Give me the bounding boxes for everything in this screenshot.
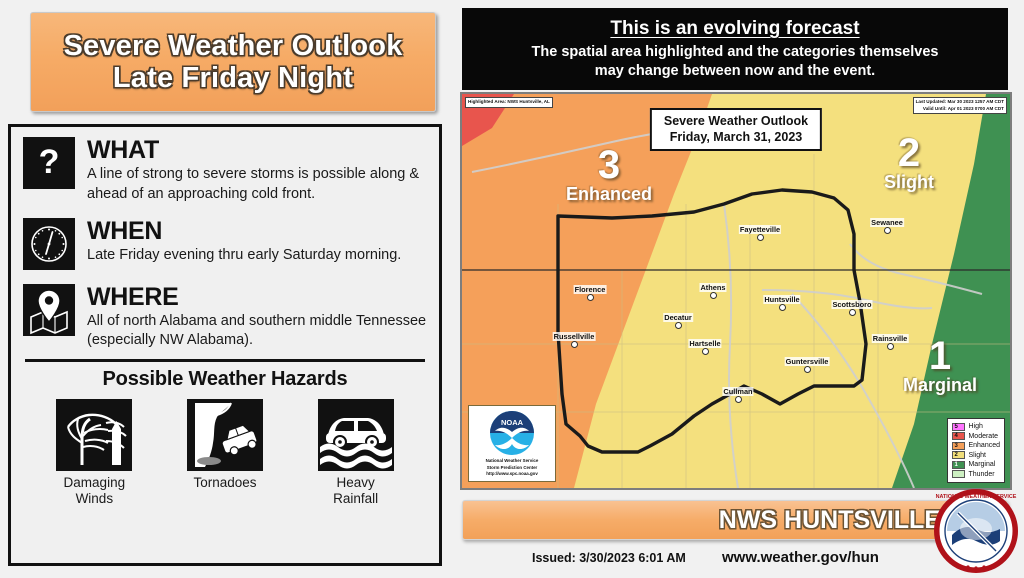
hazard-label-line-1: Damaging xyxy=(64,475,126,490)
legend-swatch xyxy=(952,470,965,478)
legend-swatch: 5 xyxy=(952,423,965,431)
info-box: ? WHAT A line of strong to severe storms… xyxy=(8,124,442,566)
map-timestamp-note: Last Updated: Mar 30 2023 1257 AM CDT Va… xyxy=(913,97,1007,114)
legend-row: 3Enhanced xyxy=(952,441,1000,451)
city-label: Huntsville xyxy=(763,295,800,304)
info-heading-where: WHERE xyxy=(87,284,427,310)
city-label: Sewanee xyxy=(870,218,904,227)
nws-seal-icon: NATIONAL WEATHER SERVICE xyxy=(934,489,1018,573)
city-dot xyxy=(735,396,742,403)
title-line-2: Late Friday Night xyxy=(113,62,353,94)
city-label: Scottsboro xyxy=(831,300,872,309)
legend-label: Moderate xyxy=(968,433,998,440)
wind-damaged-tree-icon xyxy=(56,399,132,471)
hazard-item: Heavy Rainfall xyxy=(298,399,414,507)
question-mark-icon: ? xyxy=(23,137,75,189)
city-dot xyxy=(710,292,717,299)
legend-swatch: 1 xyxy=(952,461,965,469)
info-heading-what: WHAT xyxy=(87,137,427,163)
map-valid-until: Valid Until: Apr 01 2023 0700 AM CDT xyxy=(916,106,1004,113)
info-section-when: WHEN Late Friday evening thru early Satu… xyxy=(23,218,427,270)
outlook-map[interactable]: Highlighted Area: NWS Huntsville, AL Las… xyxy=(460,92,1012,490)
left-panel: Severe Weather Outlook Late Friday Night… xyxy=(0,0,450,576)
category-number: 2 xyxy=(854,134,964,172)
legend-label: Marginal xyxy=(968,461,995,468)
noaa-line-3: http://www.spc.noaa.gov xyxy=(471,471,553,478)
info-section-where-body: WHERE All of north Alabama and southern … xyxy=(87,284,427,351)
city-label: Fayetteville xyxy=(739,225,781,234)
legend-swatch: 2 xyxy=(952,451,965,459)
clock-icon xyxy=(23,218,75,270)
info-text-what: A line of strong to severe storms is pos… xyxy=(87,165,427,204)
hazard-label-line-1: Heavy xyxy=(337,475,375,490)
hazards-list: Damaging Winds xyxy=(23,399,427,507)
info-text-when: Late Friday evening thru early Saturday … xyxy=(87,246,427,265)
city-dot xyxy=(757,234,764,241)
noaa-line-2: Storm Prediction Center xyxy=(471,465,553,472)
legend-label: Thunder xyxy=(968,471,994,478)
legend-row: Thunder xyxy=(952,470,1000,480)
issued-time: Issued: 3/30/2023 6:01 AM xyxy=(532,551,686,565)
hazard-label-line-2: Winds xyxy=(76,491,114,506)
category-number: 3 xyxy=(554,146,664,184)
tornado-icon xyxy=(187,399,263,471)
map-title-line-1: Severe Weather Outlook xyxy=(664,114,808,130)
city-label: Cullman xyxy=(722,387,753,396)
noaa-logo: NOAA xyxy=(489,410,535,456)
website-url[interactable]: www.weather.gov/hun xyxy=(722,549,879,566)
hazards-title: Possible Weather Hazards xyxy=(23,368,427,391)
info-section-when-body: WHEN Late Friday evening thru early Satu… xyxy=(87,218,427,270)
city-dot xyxy=(571,341,578,348)
map-pin-icon xyxy=(23,284,75,336)
noaa-spc-credit: NOAA National Weather Service Storm Pred… xyxy=(468,405,556,482)
legend-row: 1Marginal xyxy=(952,460,1000,470)
city-label: Florence xyxy=(574,285,607,294)
evolving-line-1: The spatial area highlighted and the cat… xyxy=(532,43,939,61)
info-heading-when: WHEN xyxy=(87,218,427,244)
hazard-label-line-2: Rainfall xyxy=(333,491,378,506)
info-text-where: All of north Alabama and southern middle… xyxy=(87,312,427,351)
evolving-headline: This is an evolving forecast xyxy=(610,18,859,40)
right-panel: This is an evolving forecast The spatial… xyxy=(450,0,1024,576)
city-label: Guntersville xyxy=(785,357,830,366)
svg-text:NOAA: NOAA xyxy=(501,418,524,427)
city-dot xyxy=(884,227,891,234)
city-dot xyxy=(587,294,594,301)
city-dot xyxy=(849,309,856,316)
legend-row: 5High xyxy=(952,422,1000,432)
hazard-item: Tornadoes xyxy=(167,399,283,491)
city-label: Russellville xyxy=(553,332,596,341)
legend-label: Enhanced xyxy=(968,442,1000,449)
legend-label: High xyxy=(968,423,982,430)
city-label: Rainsville xyxy=(872,334,909,343)
city-label: Athens xyxy=(699,283,726,292)
noaa-line-1: National Weather Service xyxy=(471,458,553,465)
map-highlighted-area-note: Highlighted Area: NWS Huntsville, AL xyxy=(465,97,553,108)
hazard-item: Damaging Winds xyxy=(36,399,152,507)
hazard-label: Damaging Winds xyxy=(36,475,152,507)
svg-text:?: ? xyxy=(39,143,60,181)
category-name: Slight xyxy=(854,172,964,193)
office-banner: NWS HUNTSVILLE xyxy=(462,500,1008,540)
hazards-divider xyxy=(25,359,425,362)
legend-swatch: 3 xyxy=(952,442,965,450)
city-dot xyxy=(804,366,811,373)
map-title-line-2: Friday, March 31, 2023 xyxy=(664,130,808,146)
svg-text:NATIONAL WEATHER SERVICE: NATIONAL WEATHER SERVICE xyxy=(936,494,1017,500)
graphic-root: Severe Weather Outlook Late Friday Night… xyxy=(0,0,1024,576)
category-label-slight: 2 Slight xyxy=(854,134,964,193)
category-label-enhanced: 3 Enhanced xyxy=(554,146,664,205)
info-section-what: ? WHAT A line of strong to severe storms… xyxy=(23,137,427,204)
city-label: Decatur xyxy=(663,313,693,322)
hazard-label: Tornadoes xyxy=(167,475,283,491)
map-title-box: Severe Weather Outlook Friday, March 31,… xyxy=(650,108,822,151)
flooded-car-icon xyxy=(318,399,394,471)
city-dot xyxy=(675,322,682,329)
category-name: Marginal xyxy=(882,375,998,396)
title-line-1: Severe Weather Outlook xyxy=(63,30,402,62)
city-dot xyxy=(887,343,894,350)
info-section-what-body: WHAT A line of strong to severe storms i… xyxy=(87,137,427,204)
city-label: Hartselle xyxy=(688,339,721,348)
legend-row: 4Moderate xyxy=(952,432,1000,442)
legend-row: 2Slight xyxy=(952,451,1000,461)
office-name: NWS HUNTSVILLE xyxy=(719,506,941,535)
hazard-label: Heavy Rainfall xyxy=(298,475,414,507)
evolving-line-2: may change between now and the event. xyxy=(595,62,875,80)
legend-swatch: 4 xyxy=(952,432,965,440)
category-name: Enhanced xyxy=(554,184,664,205)
city-dot xyxy=(779,304,786,311)
map-last-updated: Last Updated: Mar 30 2023 1257 AM CDT xyxy=(916,99,1004,106)
legend-label: Slight xyxy=(968,452,986,459)
title-banner: Severe Weather Outlook Late Friday Night xyxy=(30,12,436,112)
category-label-marginal: 1 Marginal xyxy=(882,337,998,396)
hazard-label-line-1: Tornadoes xyxy=(193,475,256,490)
city-dot xyxy=(702,348,709,355)
evolving-forecast-banner: This is an evolving forecast The spatial… xyxy=(462,8,1008,90)
map-legend: 5High4Moderate3Enhanced2Slight1MarginalT… xyxy=(947,418,1005,483)
info-section-where: WHERE All of north Alabama and southern … xyxy=(23,284,427,351)
